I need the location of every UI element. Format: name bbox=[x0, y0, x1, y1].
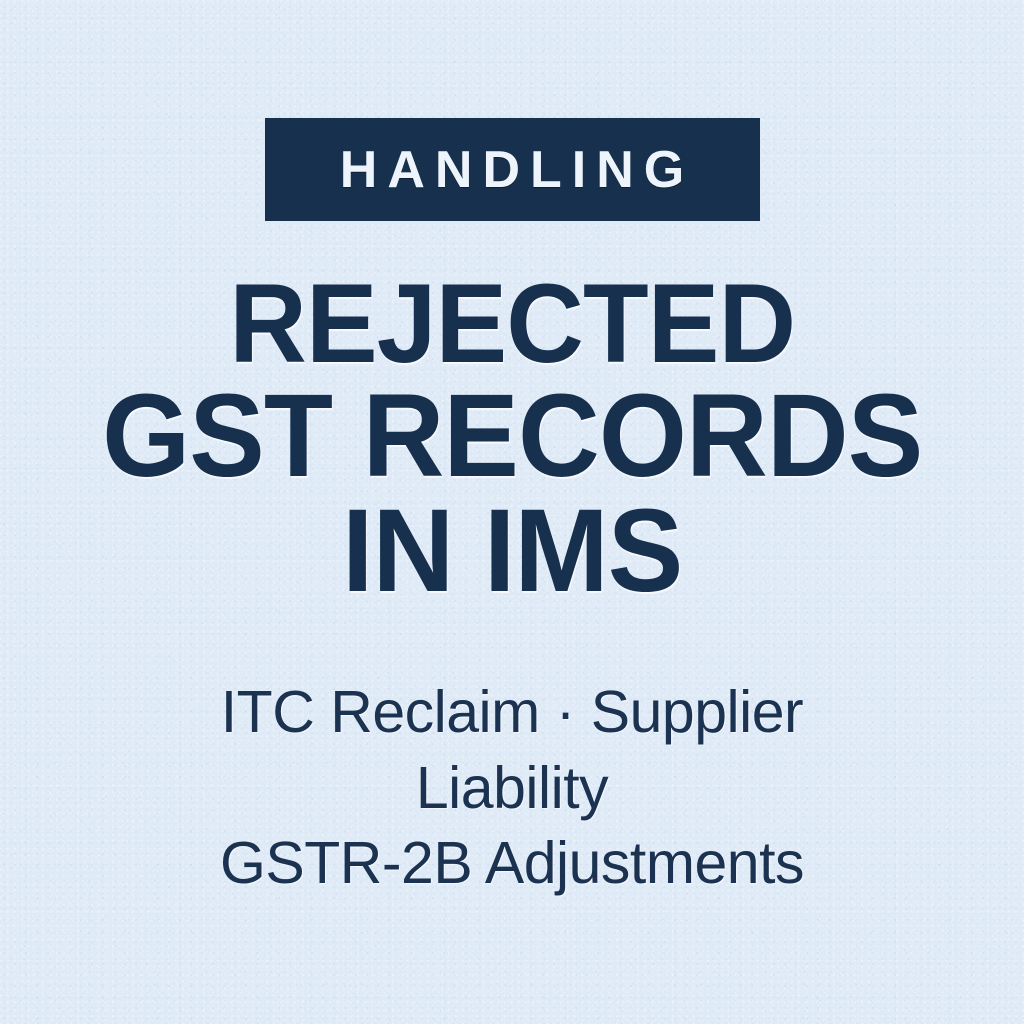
poster-content: HANDLING REJECTED GST RECORDS IN IMS ITC… bbox=[0, 0, 1024, 902]
poster-canvas: HANDLING REJECTED GST RECORDS IN IMS ITC… bbox=[0, 0, 1024, 1024]
headline-line-3: IN IMS bbox=[102, 494, 922, 610]
headline-line-1: REJECTED bbox=[102, 269, 922, 379]
page-title: REJECTED GST RECORDS IN IMS bbox=[85, 269, 939, 610]
eyebrow-badge: HANDLING bbox=[265, 118, 760, 221]
headline-line-2: GST RECORDS bbox=[102, 379, 922, 495]
page-subtitle: ITC Reclaim · Supplier Liability GSTR-2B… bbox=[132, 675, 892, 902]
subtitle-line-2: Liability bbox=[132, 751, 892, 827]
subtitle-line-3: GSTR-2B Adjustments bbox=[132, 826, 892, 902]
eyebrow-badge-label: HANDLING bbox=[330, 144, 694, 196]
subtitle-line-1: ITC Reclaim · Supplier bbox=[132, 675, 892, 751]
